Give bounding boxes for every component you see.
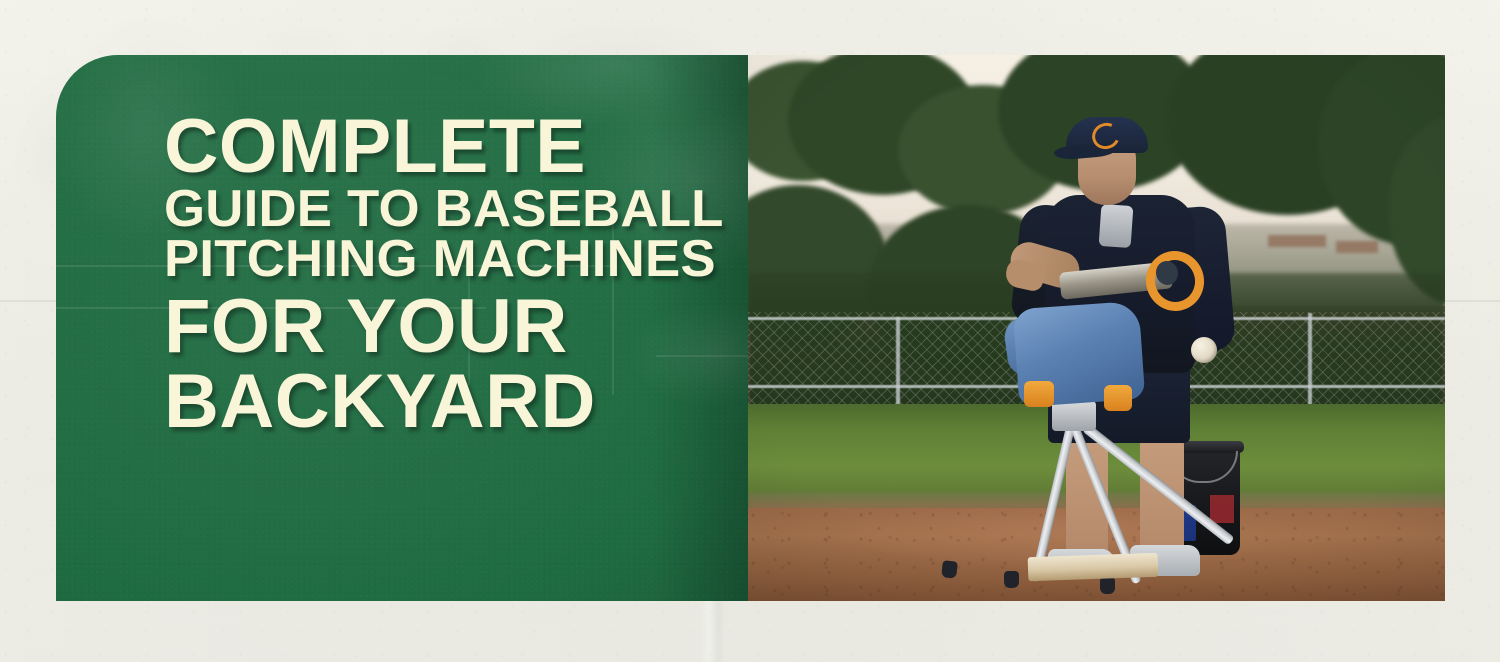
hero-photo: UA <box>748 55 1445 601</box>
hero-banner: Complete Guide to Baseball Pitching Mach… <box>0 0 1500 662</box>
page-title: Complete Guide to Baseball Pitching Mach… <box>164 110 594 439</box>
headline-line-3: Pitching Machines <box>164 234 600 284</box>
headline-line-1: Complete <box>164 110 590 184</box>
headline-line-2: Guide to Baseball <box>164 184 600 234</box>
photo-vignette <box>748 55 1445 601</box>
headline-line-5: Backyard <box>164 364 594 439</box>
headline-line-4: For Your <box>164 289 594 364</box>
